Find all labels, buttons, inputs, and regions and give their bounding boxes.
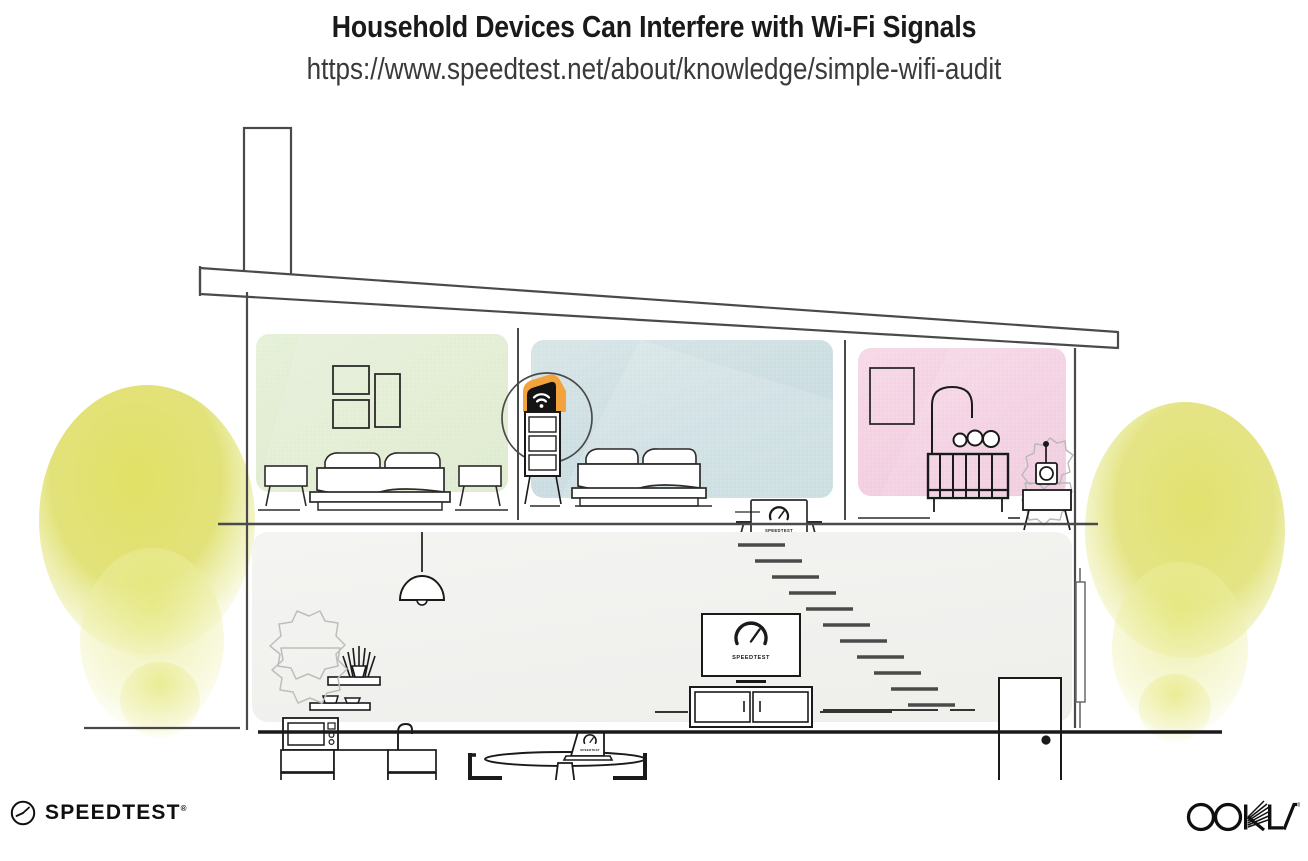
- speedtest-logo-text: SPEEDTEST®: [45, 801, 188, 825]
- bed-left-bedroom: [310, 453, 450, 510]
- laptop-screen-label: SPEEDTEST: [580, 748, 600, 752]
- tv-stand: [736, 680, 766, 683]
- speedtest-logo: SPEEDTEST®: [10, 800, 188, 826]
- page-title: Household Devices Can Interfere with Wi-…: [92, 0, 1217, 45]
- kitchen-cabinets: [281, 750, 436, 780]
- bush-left: [39, 385, 255, 738]
- laptop[interactable]: SPEEDTEST: [564, 732, 612, 760]
- speedtest-trademark: ®: [181, 804, 188, 813]
- speedtest-gauge-icon: [10, 800, 36, 826]
- nightstand-right: [459, 466, 501, 506]
- nightstand-left: [265, 466, 307, 506]
- side-window: [1076, 568, 1085, 728]
- kitchen-sink-faucet: [398, 724, 412, 750]
- wall-shelf-lower: [310, 703, 370, 710]
- room-left-bedroom: [256, 334, 508, 510]
- chimney: [244, 128, 291, 278]
- header: Household Devices Can Interfere with Wi-…: [0, 0, 1308, 87]
- ground-floor: SPEEDTEST: [252, 532, 1072, 780]
- tv-screen-label: SPEEDTEST: [732, 655, 770, 661]
- illustration-page: Household Devices Can Interfere with Wi-…: [0, 0, 1308, 861]
- dining-table: [485, 752, 645, 780]
- room-middle-bedroom: SPEEDTEST: [531, 340, 833, 552]
- wall-shelf-upper: [328, 677, 380, 685]
- page-url: https://www.speedtest.net/about/knowledg…: [105, 45, 1204, 87]
- bush-right: [1085, 402, 1285, 742]
- ookla-trademark: ®: [1297, 802, 1300, 809]
- room-nursery: [858, 348, 1073, 530]
- speedtest-wordmark: SPEEDTEST: [45, 801, 181, 824]
- media-console: [690, 687, 812, 727]
- ookla-logo: ®: [1184, 793, 1300, 842]
- television[interactable]: SPEEDTEST: [702, 614, 800, 683]
- door-knob-icon[interactable]: [1041, 735, 1050, 744]
- house-cutaway-illustration: SPEEDTEST: [0, 100, 1308, 780]
- ookla-logo-icon: ®: [1184, 793, 1300, 837]
